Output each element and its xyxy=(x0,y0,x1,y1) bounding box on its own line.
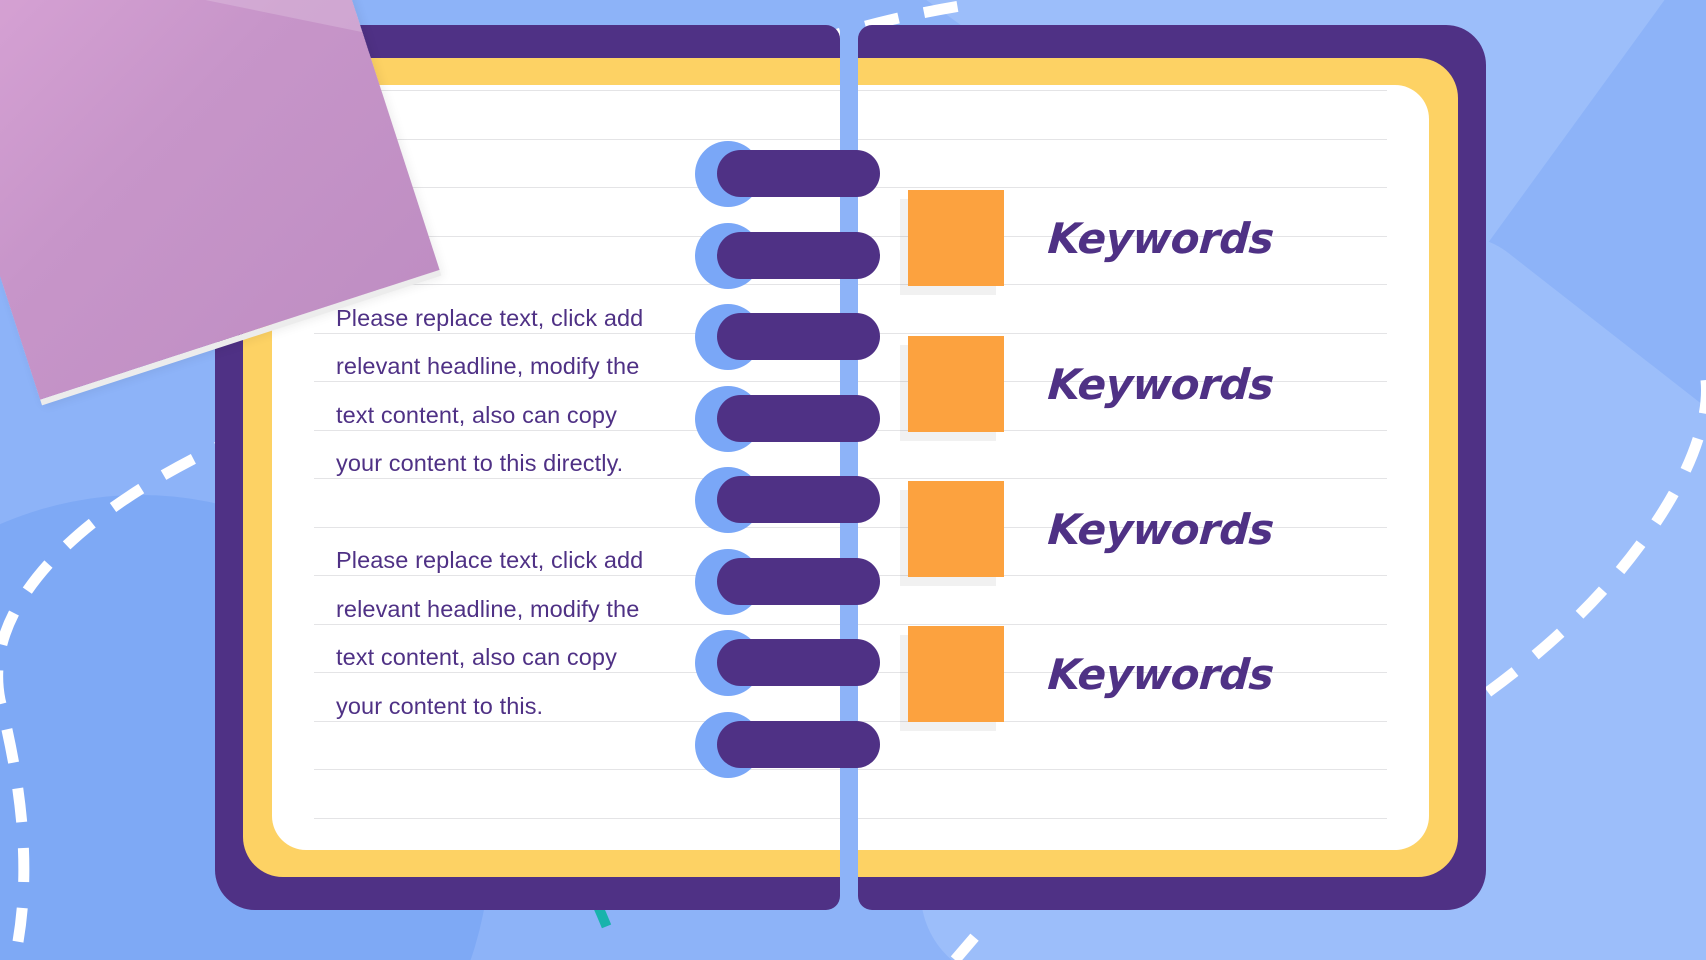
spiral-ring xyxy=(695,467,885,533)
ruled-line xyxy=(858,624,1387,625)
ruled-line xyxy=(858,187,1387,188)
spiral-ring-bar xyxy=(717,395,880,442)
ruled-line xyxy=(858,478,1387,479)
spiral-binding xyxy=(690,0,890,960)
spiral-ring xyxy=(695,141,885,207)
ruled-line xyxy=(858,90,1387,91)
left-page-paragraph-1: Please replace text, click add relevant … xyxy=(336,294,666,488)
left-page-paragraph-2: Please replace text, click add relevant … xyxy=(336,536,666,730)
spiral-ring xyxy=(695,223,885,289)
spiral-ring-bar xyxy=(717,639,880,686)
keyword-swatch-icon xyxy=(908,190,1004,286)
ruled-line xyxy=(858,139,1387,140)
spiral-ring-bar xyxy=(717,721,880,768)
ruled-line xyxy=(858,818,1387,819)
spiral-ring xyxy=(695,549,885,615)
keyword-swatch-icon xyxy=(908,481,1004,577)
spiral-ring xyxy=(695,712,885,778)
keyword-label: Keywords xyxy=(1046,360,1275,409)
spiral-ring-bar xyxy=(717,558,880,605)
keyword-row[interactable]: Keywords xyxy=(908,626,1274,722)
spiral-ring-bar xyxy=(717,313,880,360)
keyword-label: Keywords xyxy=(1046,650,1275,699)
ruled-line xyxy=(858,333,1387,334)
keyword-row[interactable]: Keywords xyxy=(908,481,1274,577)
spiral-ring-bar xyxy=(717,476,880,523)
keyword-row[interactable]: Keywords xyxy=(908,336,1274,432)
poster-canvas: Please replace text, click add relevant … xyxy=(0,0,1706,960)
keyword-label: Keywords xyxy=(1046,505,1275,554)
keyword-swatch-icon xyxy=(908,626,1004,722)
keyword-swatch-icon xyxy=(908,336,1004,432)
keyword-label: Keywords xyxy=(1046,214,1275,263)
left-page-body-text: Please replace text, click add relevant … xyxy=(336,245,666,779)
ruled-line xyxy=(858,769,1387,770)
spiral-ring xyxy=(695,386,885,452)
spiral-ring xyxy=(695,304,885,370)
spiral-ring-bar xyxy=(717,150,880,197)
keyword-row[interactable]: Keywords xyxy=(908,190,1274,286)
notebook-right-half xyxy=(858,25,1486,910)
spiral-ring xyxy=(695,630,885,696)
spiral-ring-bar xyxy=(717,232,880,279)
